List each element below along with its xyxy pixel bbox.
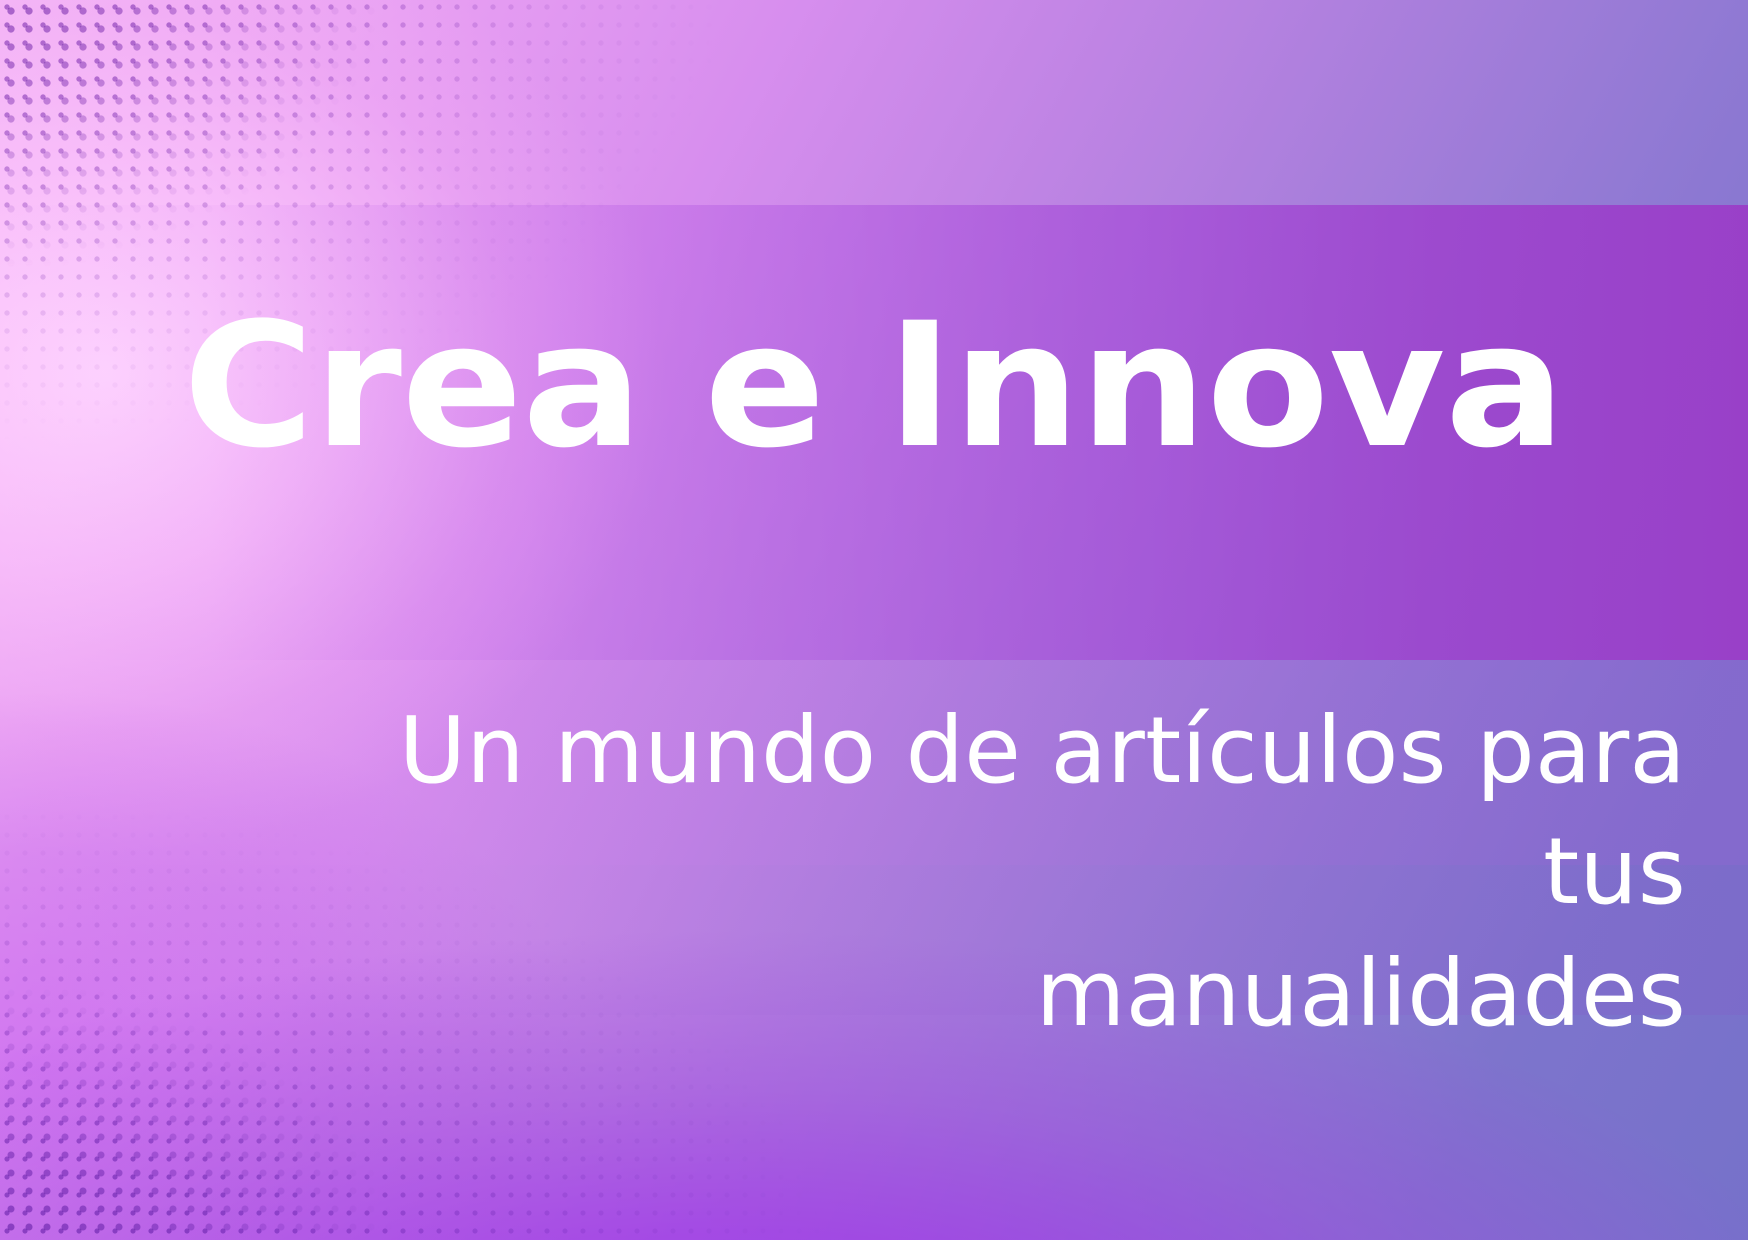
banner-content: Crea e Innova Un mundo de artículos para… bbox=[0, 0, 1748, 1240]
banner-subtitle: Un mundo de artículos para tus manualida… bbox=[356, 690, 1686, 1054]
promo-banner: Crea e Innova Un mundo de artículos para… bbox=[0, 0, 1748, 1240]
banner-subtitle-line-1: Un mundo de artículos para tus bbox=[356, 690, 1686, 933]
banner-headline: Crea e Innova bbox=[0, 300, 1748, 472]
banner-subtitle-line-2: manualidades bbox=[356, 933, 1686, 1054]
